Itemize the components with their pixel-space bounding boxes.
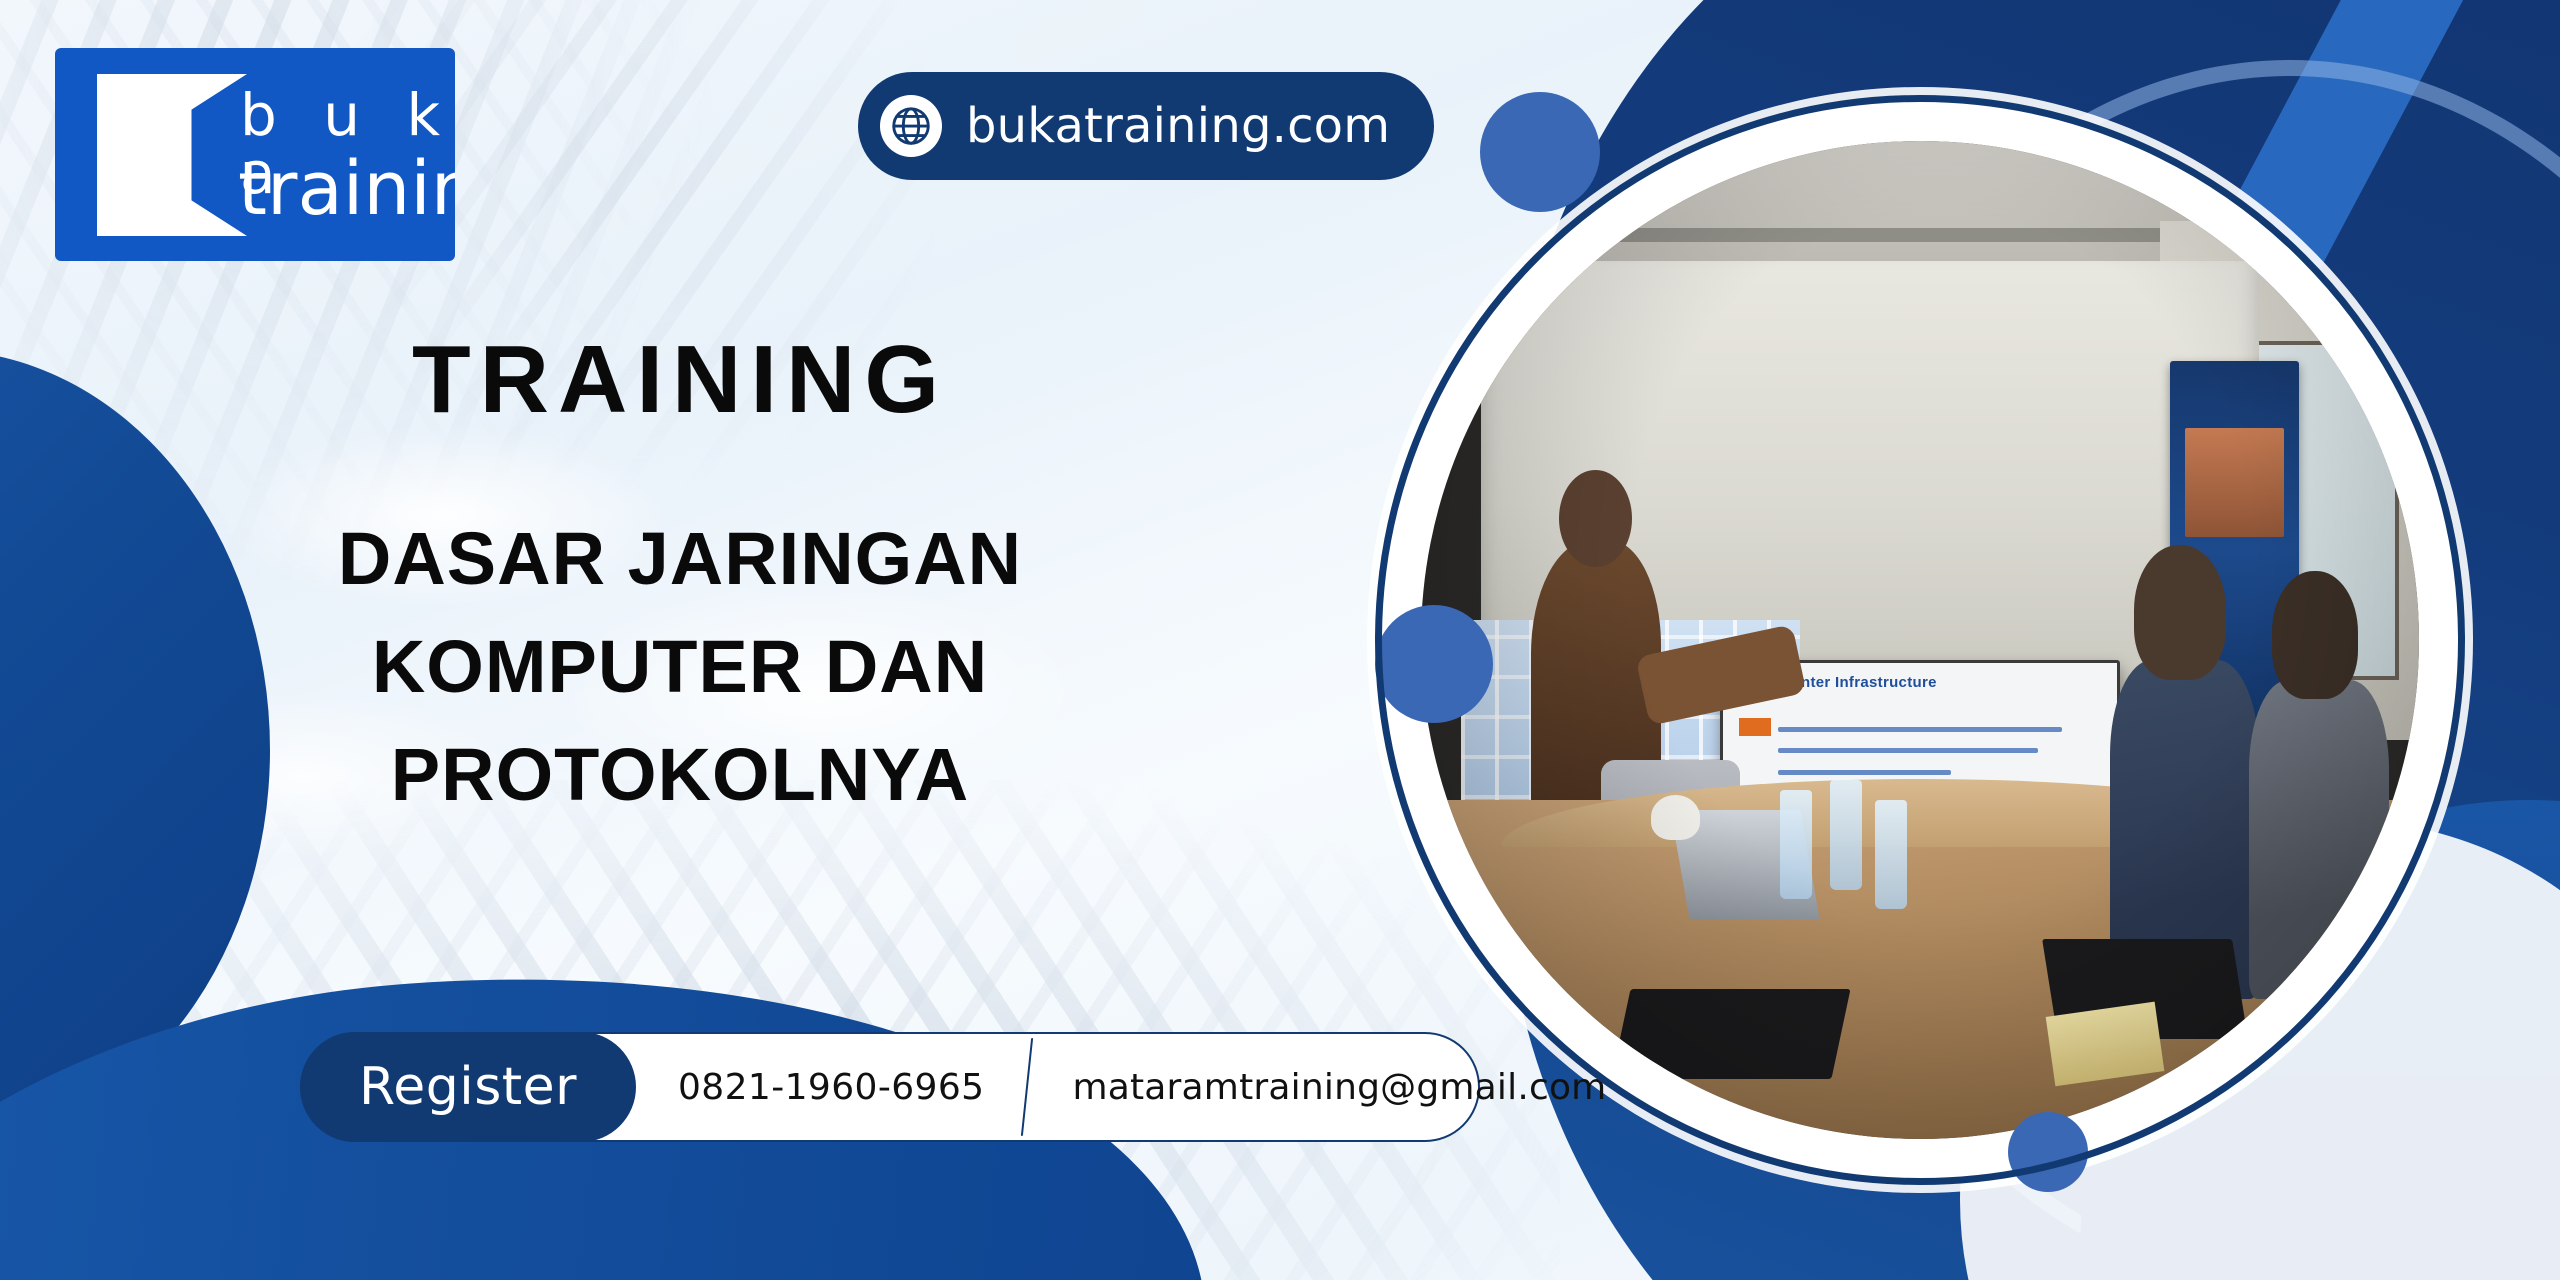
globe-icon [880,95,942,157]
door-knob-icon [178,176,189,187]
accent-dot-top-right [1480,92,1600,212]
open-door-icon [97,74,247,236]
contact-email[interactable]: mataramtraining@gmail.com [1028,1032,1650,1142]
headline-block: TRAINING DASAR JARINGAN KOMPUTER DAN PRO… [310,330,1050,829]
promo-banner: Data Center Infrastructure [0,0,2560,1280]
training-room-photo: Data Center Infrastructure [1421,141,2419,1139]
accent-dot-mid-left [1375,605,1493,723]
logo-word-training: training [238,152,455,226]
accent-dot-bottom [2008,1112,2088,1192]
headline-title-line-1: DASAR JARINGAN [310,505,1050,613]
photo-vignette [1421,141,2419,1139]
headline-title-line-3: PROTOKOLNYA [310,721,1050,829]
headline-title-line-2: KOMPUTER DAN [310,613,1050,721]
register-bar: Register 0821-1960-6965 mataramtraining@… [300,1032,1650,1142]
contact-phone[interactable]: 0821-1960-6965 [636,1032,1026,1142]
headline-title: DASAR JARINGAN KOMPUTER DAN PROTOKOLNYA [310,505,1050,829]
headline-kicker: TRAINING [310,330,1050,431]
website-badge[interactable]: bukatraining.com [858,72,1434,180]
photo-circle: Data Center Infrastructure [1375,95,2465,1185]
register-button[interactable]: Register [300,1032,636,1142]
website-url: bukatraining.com [966,98,1390,154]
buka-training-logo[interactable]: b u k a training [55,48,455,261]
